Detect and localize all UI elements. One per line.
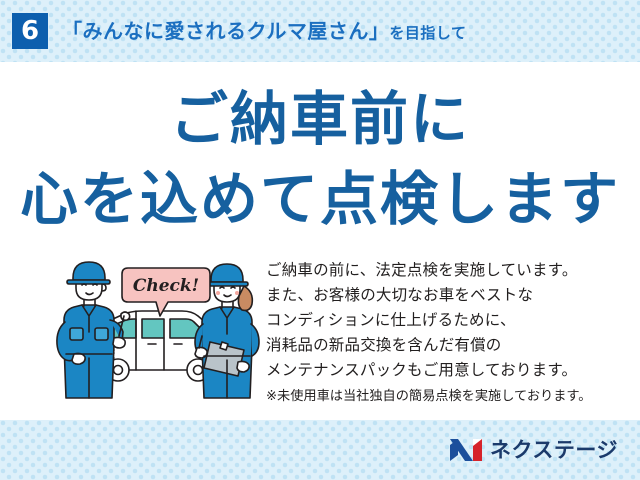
header-title-main: 「みんなに愛されるクルマ屋さん」 [62, 19, 389, 43]
mechanics-illustration: Check! [52, 258, 267, 406]
body-copy: ご納車の前に、法定点検を実施しています。 また、お客様の大切なお車をベストな コ… [266, 258, 634, 407]
content-panel: ご納車前に 心を込めて点検します [0, 62, 640, 420]
body-line-3: コンディションに仕上げるために、 [266, 308, 634, 333]
nextage-n-mark-icon [449, 438, 483, 462]
body-line-4: 消耗品の新品交換を含んだ有償の [266, 333, 634, 358]
headline-line-1: ご納車前に [0, 90, 640, 148]
body-note: ※未使用車は当社独自の簡易点検を実施しております。 [266, 386, 634, 407]
header-bar: 6 「みんなに愛されるクルマ屋さん」を目指して [0, 0, 640, 62]
nextage-logo: ネクステージ [449, 438, 618, 462]
section-number-badge: 6 [12, 13, 48, 49]
headline-line-2: 心を込めて点検します [0, 170, 640, 228]
body-line-5: メンテナンスパックもご用意しております。 [266, 358, 634, 383]
nextage-brand-name: ネクステージ [490, 440, 618, 461]
body-line-1: ご納車の前に、法定点検を実施しています。 [266, 258, 634, 283]
body-line-2: また、お客様の大切なお車をベストな [266, 283, 634, 308]
footer-bar: ネクステージ [0, 420, 640, 480]
speech-bubble-label: Check! [133, 276, 199, 296]
header-title-sub: を目指して [389, 24, 466, 42]
header-title: 「みんなに愛されるクルマ屋さん」を目指して [62, 21, 466, 41]
